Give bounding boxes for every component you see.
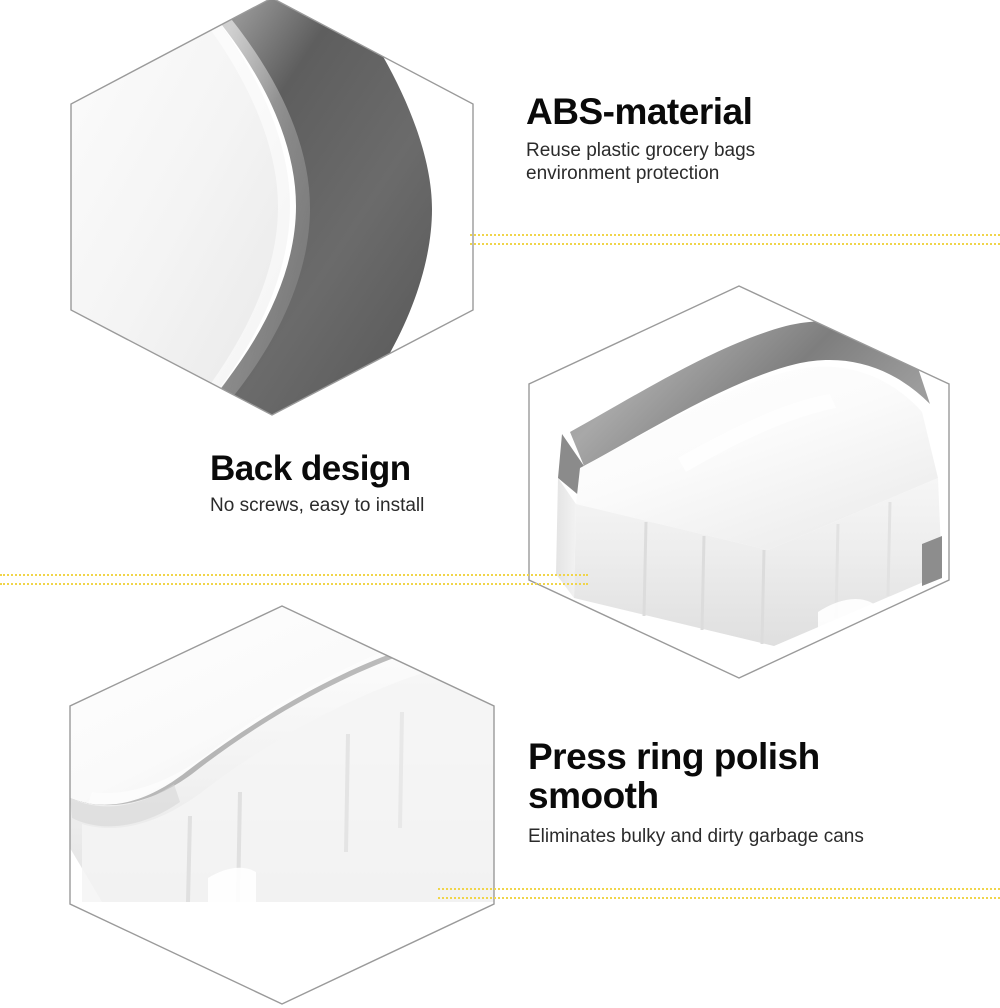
photo-content-abs [20,0,485,464]
feature-photo-abs-material [60,0,485,419]
divider-line-lower [438,897,1000,899]
feature-headline: Back design [210,450,424,487]
feature-text-back-design: Back design No screws, easy to install [210,450,424,518]
divider-line-lower [0,583,588,585]
divider-middle [0,574,588,586]
divider-line-upper [438,888,1000,890]
divider-line-lower [470,243,1000,245]
photo-content-back [518,282,961,682]
feature-text-press-ring: Press ring polish smooth Eliminates bulk… [528,737,864,849]
feature-photo-back-design [518,282,961,682]
divider-bottom [438,888,1000,900]
divider-line-upper [0,574,588,576]
divider-line-upper [470,234,1000,236]
divider-top [470,234,1000,246]
product-feature-infographic: ABS-material Reuse plastic grocery bags … [0,0,1000,1000]
feature-headline: ABS-material [526,92,755,131]
feature-subline: Eliminates bulky and dirty garbage cans [528,826,864,848]
photo-content-press [38,572,506,1008]
feature-subline: No screws, easy to install [210,495,424,517]
feature-photo-press-ring [58,602,506,1008]
feature-subline: Reuse plastic grocery bags environment p… [526,140,755,185]
feature-headline: Press ring polish smooth [528,737,864,815]
feature-text-abs-material: ABS-material Reuse plastic grocery bags … [526,92,755,185]
